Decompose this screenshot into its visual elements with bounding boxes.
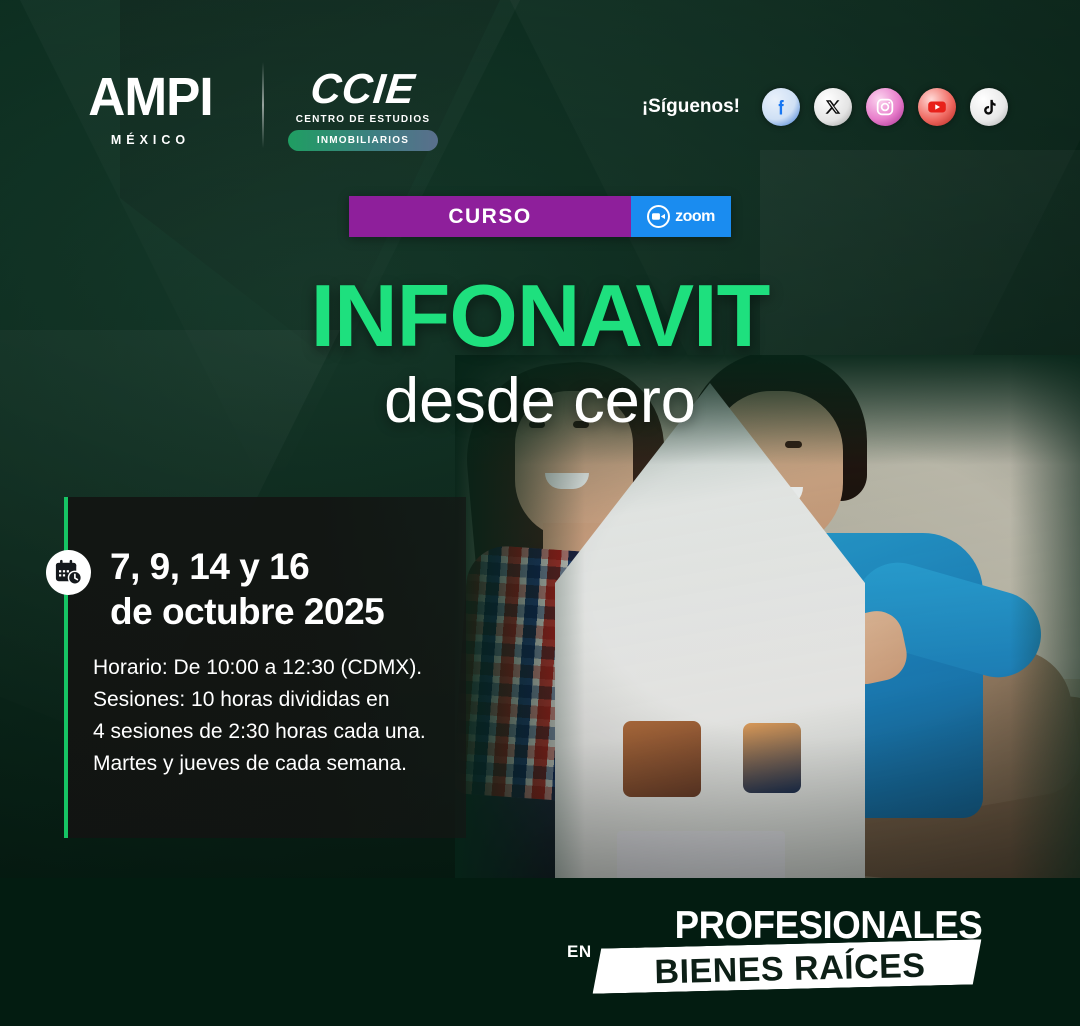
ampi-logo: AMPI MÉXICO bbox=[68, 70, 233, 147]
footer-line-en: EN bbox=[567, 942, 592, 962]
schedule-line: Martes y jueves de cada semana. bbox=[93, 748, 463, 780]
ampi-logo-text: AMPI bbox=[72, 70, 229, 124]
ampi-logo-subtitle: MÉXICO bbox=[68, 133, 233, 147]
date-row: 7, 9, 14 y 16 de octubre 2025 bbox=[46, 544, 384, 634]
footer: PROFESIONALES EN BIENES RAÍCES bbox=[0, 878, 1080, 1026]
social-follow-group: ¡Síguenos! bbox=[642, 88, 1008, 126]
follow-label: ¡Síguenos! bbox=[642, 96, 740, 118]
course-date-line-2: de octubre 2025 bbox=[110, 591, 384, 632]
youtube-icon[interactable] bbox=[918, 88, 956, 126]
calendar-clock-icon bbox=[46, 550, 91, 595]
ccie-logo-subtitle: CENTRO DE ESTUDIOS bbox=[288, 114, 438, 125]
photo-right-fade bbox=[1010, 355, 1080, 878]
header: AMPI MÉXICO CCIE CENTRO DE ESTUDIOS INMO… bbox=[0, 0, 1080, 170]
video-camera-icon bbox=[647, 205, 670, 228]
facebook-icon[interactable] bbox=[762, 88, 800, 126]
curso-badge: CURSO bbox=[349, 196, 631, 237]
course-platform-banner: CURSO zoom bbox=[349, 196, 731, 237]
ccie-logo-text: CCIE bbox=[286, 68, 440, 110]
zoom-badge: zoom bbox=[631, 196, 731, 237]
ccie-logo-pill: INMOBILIARIOS bbox=[288, 130, 438, 151]
curso-label: CURSO bbox=[448, 205, 531, 229]
schedule-line: 4 sesiones de 2:30 horas cada una. bbox=[93, 716, 463, 748]
tiktok-icon[interactable] bbox=[970, 88, 1008, 126]
ccie-logo: CCIE CENTRO DE ESTUDIOS INMOBILIARIOS bbox=[288, 68, 438, 151]
footer-line-bottom: BIENES RAÍCES bbox=[610, 946, 971, 994]
profesionales-lockup: PROFESIONALES EN BIENES RAÍCES bbox=[562, 904, 982, 990]
page-title: INFONAVIT bbox=[0, 272, 1080, 360]
page-subtitle: desde cero bbox=[0, 370, 1080, 433]
course-date-line-1: 7, 9, 14 y 16 bbox=[110, 546, 309, 587]
schedule-line: Horario: De 10:00 a 12:30 (CDMX). bbox=[93, 652, 463, 684]
course-schedule-details: Horario: De 10:00 a 12:30 (CDMX). Sesion… bbox=[93, 652, 463, 780]
zoom-label: zoom bbox=[675, 208, 715, 226]
instagram-icon[interactable] bbox=[866, 88, 904, 126]
course-info-panel: 7, 9, 14 y 16 de octubre 2025 Horario: D… bbox=[64, 497, 466, 838]
promotional-poster: AMPI MÉXICO CCIE CENTRO DE ESTUDIOS INMO… bbox=[0, 0, 1080, 1026]
course-dates: 7, 9, 14 y 16 de octubre 2025 bbox=[110, 544, 384, 634]
logo-divider bbox=[262, 62, 264, 148]
schedule-line: Sesiones: 10 horas divididas en bbox=[93, 684, 463, 716]
x-twitter-icon[interactable] bbox=[814, 88, 852, 126]
